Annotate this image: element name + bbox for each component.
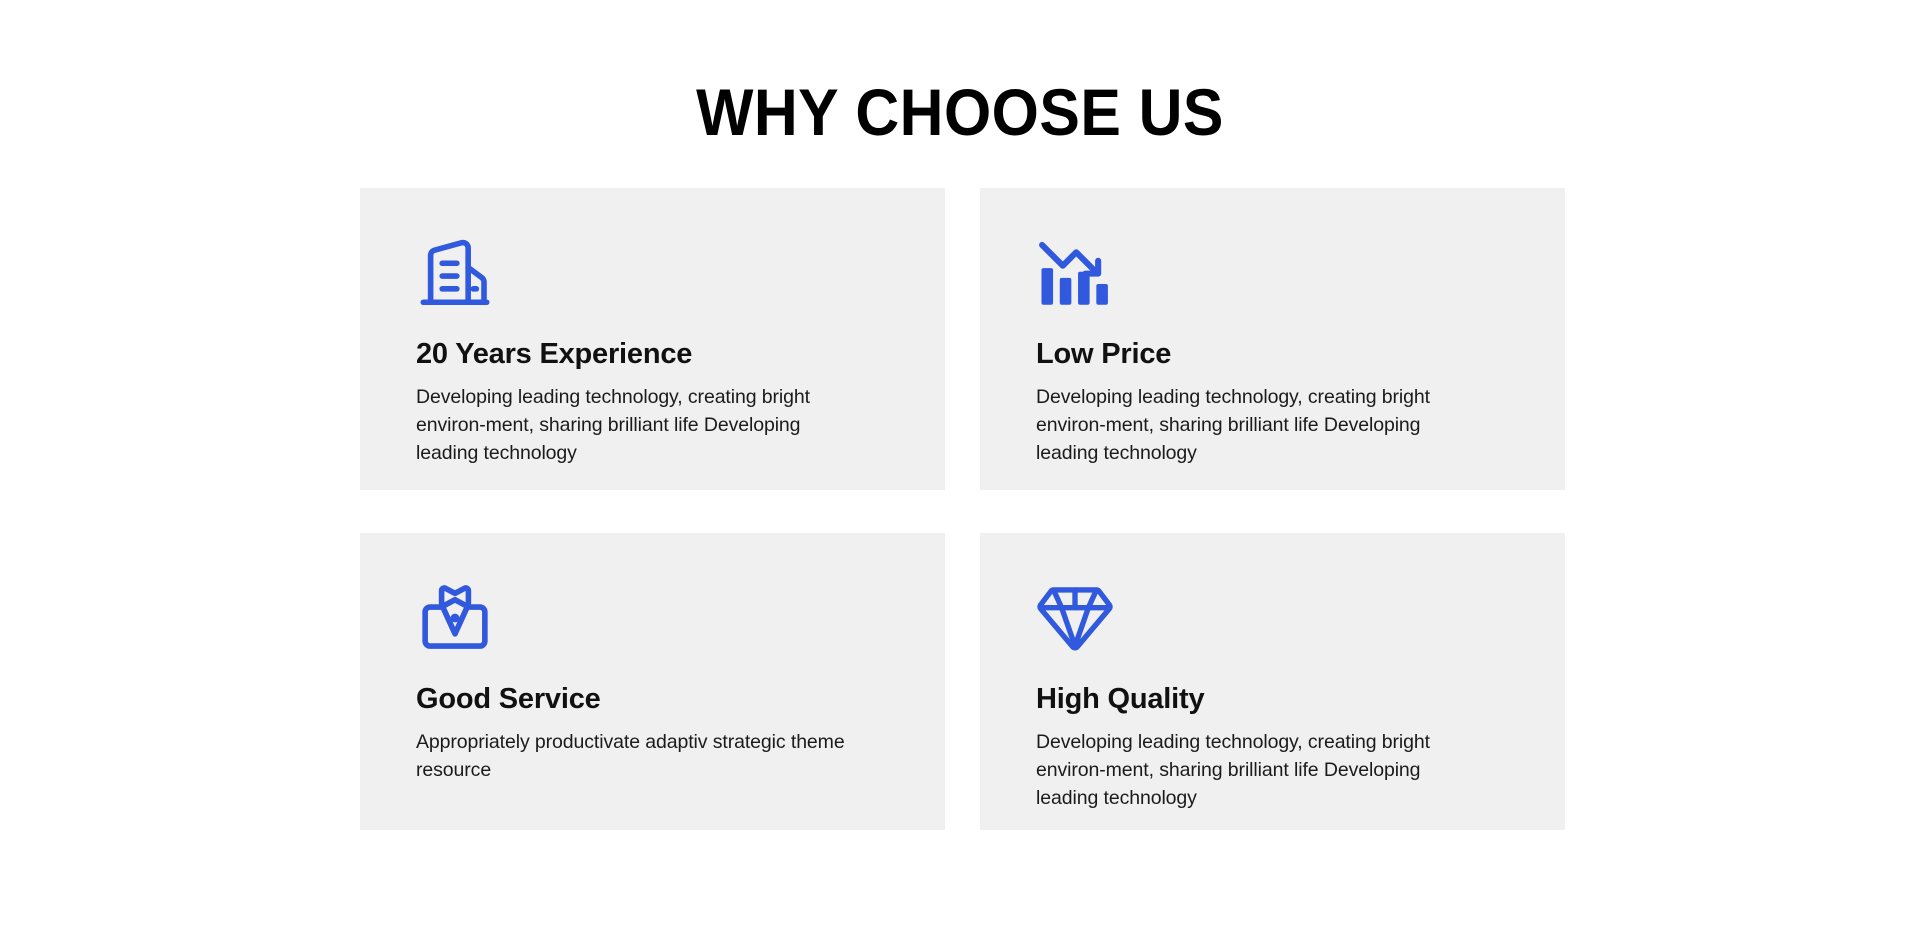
feature-card[interactable]: High Quality Developing leading technolo… <box>980 533 1565 830</box>
diamond-icon <box>1036 579 1114 657</box>
feature-cards-grid: 20 Years Experience Developing leading t… <box>360 188 1565 830</box>
card-title: High Quality <box>1036 683 1509 716</box>
declining-bar-chart-icon <box>1036 234 1114 312</box>
card-title: 20 Years Experience <box>416 338 889 371</box>
card-description: Developing leading technology, creating … <box>1036 384 1466 467</box>
feature-card[interactable]: Good Service Appropriately productivate … <box>360 533 945 830</box>
office-building-icon <box>416 234 494 312</box>
page-title: WHY CHOOSE US <box>77 78 1843 147</box>
waiter-bowtie-icon <box>416 579 494 657</box>
card-description: Developing leading technology, creating … <box>1036 729 1466 812</box>
card-title: Low Price <box>1036 338 1509 371</box>
card-title: Good Service <box>416 683 889 716</box>
feature-card[interactable]: 20 Years Experience Developing leading t… <box>360 188 945 490</box>
card-description: Developing leading technology, creating … <box>416 384 846 467</box>
why-choose-us-section: WHY CHOOSE US 20 Years Experience Develo… <box>0 0 1920 930</box>
card-description: Appropriately productivate adaptiv strat… <box>416 729 846 784</box>
feature-card[interactable]: Low Price Developing leading technology,… <box>980 188 1565 490</box>
